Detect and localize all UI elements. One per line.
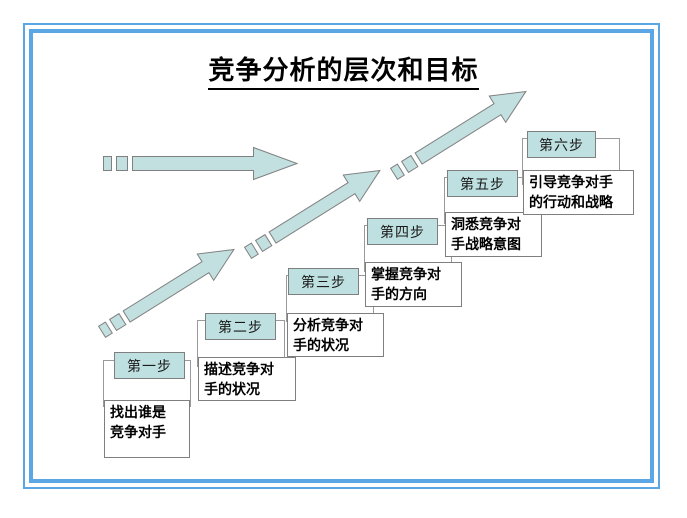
step-tag-1[interactable]: 第一步 [114,352,185,379]
slide-canvas: 竞争分析的层次和目标 [0,0,687,518]
arrow-diagonal-middle [245,183,380,261]
step-tag-6[interactable]: 第六步 [527,131,596,158]
page-title-text: 竞争分析的层次和目标 [208,56,478,90]
arrow-horizontal-top [103,147,298,180]
step-desc-6[interactable]: 引导竞争对手 的行动和战略 [523,170,634,215]
step-tag-3[interactable]: 第三步 [288,268,359,295]
step-tag-5[interactable]: 第五步 [447,170,518,197]
step-desc-4[interactable]: 掌握竞争对 手的方向 [365,262,462,307]
step-desc-2[interactable]: 描述竞争对 手的状况 [198,357,296,401]
step-tag-4[interactable]: 第四步 [367,218,438,245]
step-desc-3[interactable]: 分析竞争对 手的状况 [287,313,384,357]
page-title: 竞争分析的层次和目标 [0,50,687,87]
step-desc-5[interactable]: 洞悉竞争对 手战略意图 [445,212,542,257]
step-desc-1[interactable]: 找出谁是 竞争对手 [104,400,190,458]
step-tag-2[interactable]: 第二步 [205,313,276,340]
